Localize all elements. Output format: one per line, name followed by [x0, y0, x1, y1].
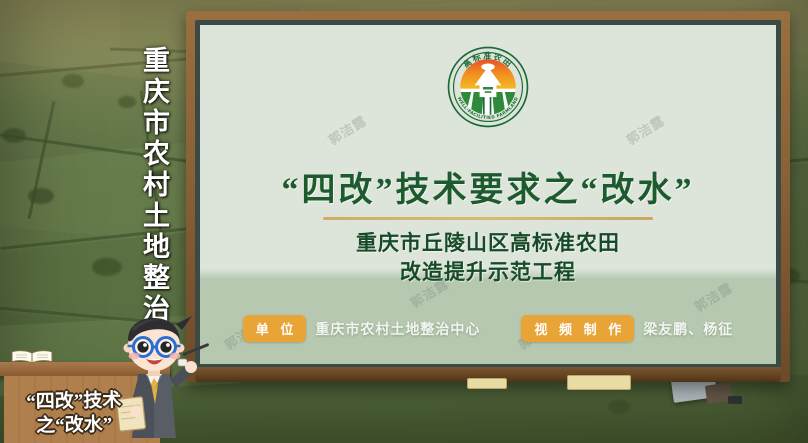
- title-divider: [323, 217, 653, 220]
- chalk-stick-icon: [467, 378, 507, 389]
- bottom-left-caption: “四改”技术 之“改水”: [4, 389, 145, 439]
- credit-badge-unit: 单 位: [243, 315, 307, 342]
- slide-subtitle-line-2: 改造提升示范工程: [200, 258, 776, 287]
- chalkboard-inner-border: 高标准农田 WELL·FACILITIED FARMLAND “四改”技术要求之…: [195, 20, 781, 370]
- credit-item-unit: 单 位 重庆市农村土地整治中心: [243, 315, 481, 342]
- slide-screenshot: 重庆市农村土地整治中心: [0, 0, 808, 443]
- bottom-left-caption-line-1: “四改”技术: [4, 389, 144, 415]
- credit-value-video-production: 梁友鹏、杨征: [643, 319, 733, 339]
- slide-subtitle-line-1: 重庆市丘陵山区高标准农田: [200, 229, 776, 258]
- credit-value-unit: 重庆市农村土地整治中心: [315, 319, 480, 339]
- chalkboard: 高标准农田 WELL·FACILITIED FARMLAND “四改”技术要求之…: [186, 11, 790, 382]
- credit-item-video-production: 视 频 制 作 梁友鹏、杨征: [521, 315, 733, 342]
- watermark: 郭洁露: [324, 110, 370, 148]
- well-facilitied-farmland-logo-icon: 高标准农田 WELL·FACILITIED FARMLAND: [446, 45, 530, 129]
- credits-row: 单 位 重庆市农村土地整治中心 视 频 制 作 梁友鹏、杨征: [200, 315, 776, 342]
- watermark: 郭洁露: [622, 110, 668, 148]
- chalk-eraser-icon: [567, 375, 631, 390]
- chalkboard-surface: 高标准农田 WELL·FACILITIED FARMLAND “四改”技术要求之…: [200, 25, 776, 364]
- slide-subtitle: 重庆市丘陵山区高标准农田 改造提升示范工程: [200, 229, 776, 287]
- credit-badge-video-production: 视 频 制 作: [521, 315, 634, 342]
- bottom-left-caption-line-2: 之“改水”: [4, 413, 144, 439]
- slide-main-title: “四改”技术要求之“改水”: [200, 162, 776, 211]
- open-book-icon: [10, 350, 54, 364]
- chalk-ledge: [195, 367, 781, 382]
